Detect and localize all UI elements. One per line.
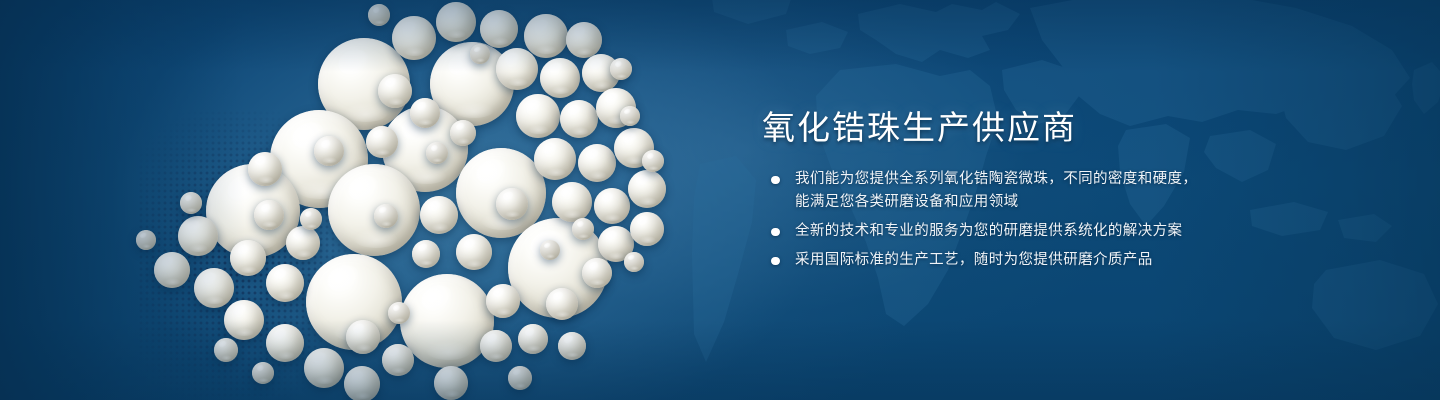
bullet-text-line2: 能满足您各类研磨设备和应用领域 [795, 191, 1236, 214]
feature-bullet-list: 我们能为您提供全系列氧化锆陶瓷微珠，不同的密度和硬度， 能满足您各类研磨设备和应… [766, 168, 1236, 272]
bullet-dot-icon [771, 228, 780, 237]
bullet-dot-icon [771, 176, 780, 185]
bullet-text-line1: 采用国际标准的生产工艺，随时为您提供研磨介质产品 [795, 249, 1236, 272]
bullet-dot-icon [771, 257, 780, 266]
list-item: 我们能为您提供全系列氧化锆陶瓷微珠，不同的密度和硬度， 能满足您各类研磨设备和应… [766, 168, 1236, 214]
bullet-text-line1: 我们能为您提供全系列氧化锆陶瓷微珠，不同的密度和硬度， [795, 168, 1236, 191]
list-item: 全新的技术和专业的服务为您的研磨提供系统化的解决方案 [766, 220, 1236, 243]
bullet-text-line1: 全新的技术和专业的服务为您的研磨提供系统化的解决方案 [795, 220, 1236, 243]
banner-content: 氧化锆珠生产供应商 我们能为您提供全系列氧化锆陶瓷微珠，不同的密度和硬度， 能满… [760, 0, 1320, 400]
hero-banner: 氧化锆珠生产供应商 我们能为您提供全系列氧化锆陶瓷微珠，不同的密度和硬度， 能满… [0, 0, 1440, 400]
list-item: 采用国际标准的生产工艺，随时为您提供研磨介质产品 [766, 249, 1236, 272]
banner-headline: 氧化锆珠生产供应商 [762, 108, 1077, 148]
